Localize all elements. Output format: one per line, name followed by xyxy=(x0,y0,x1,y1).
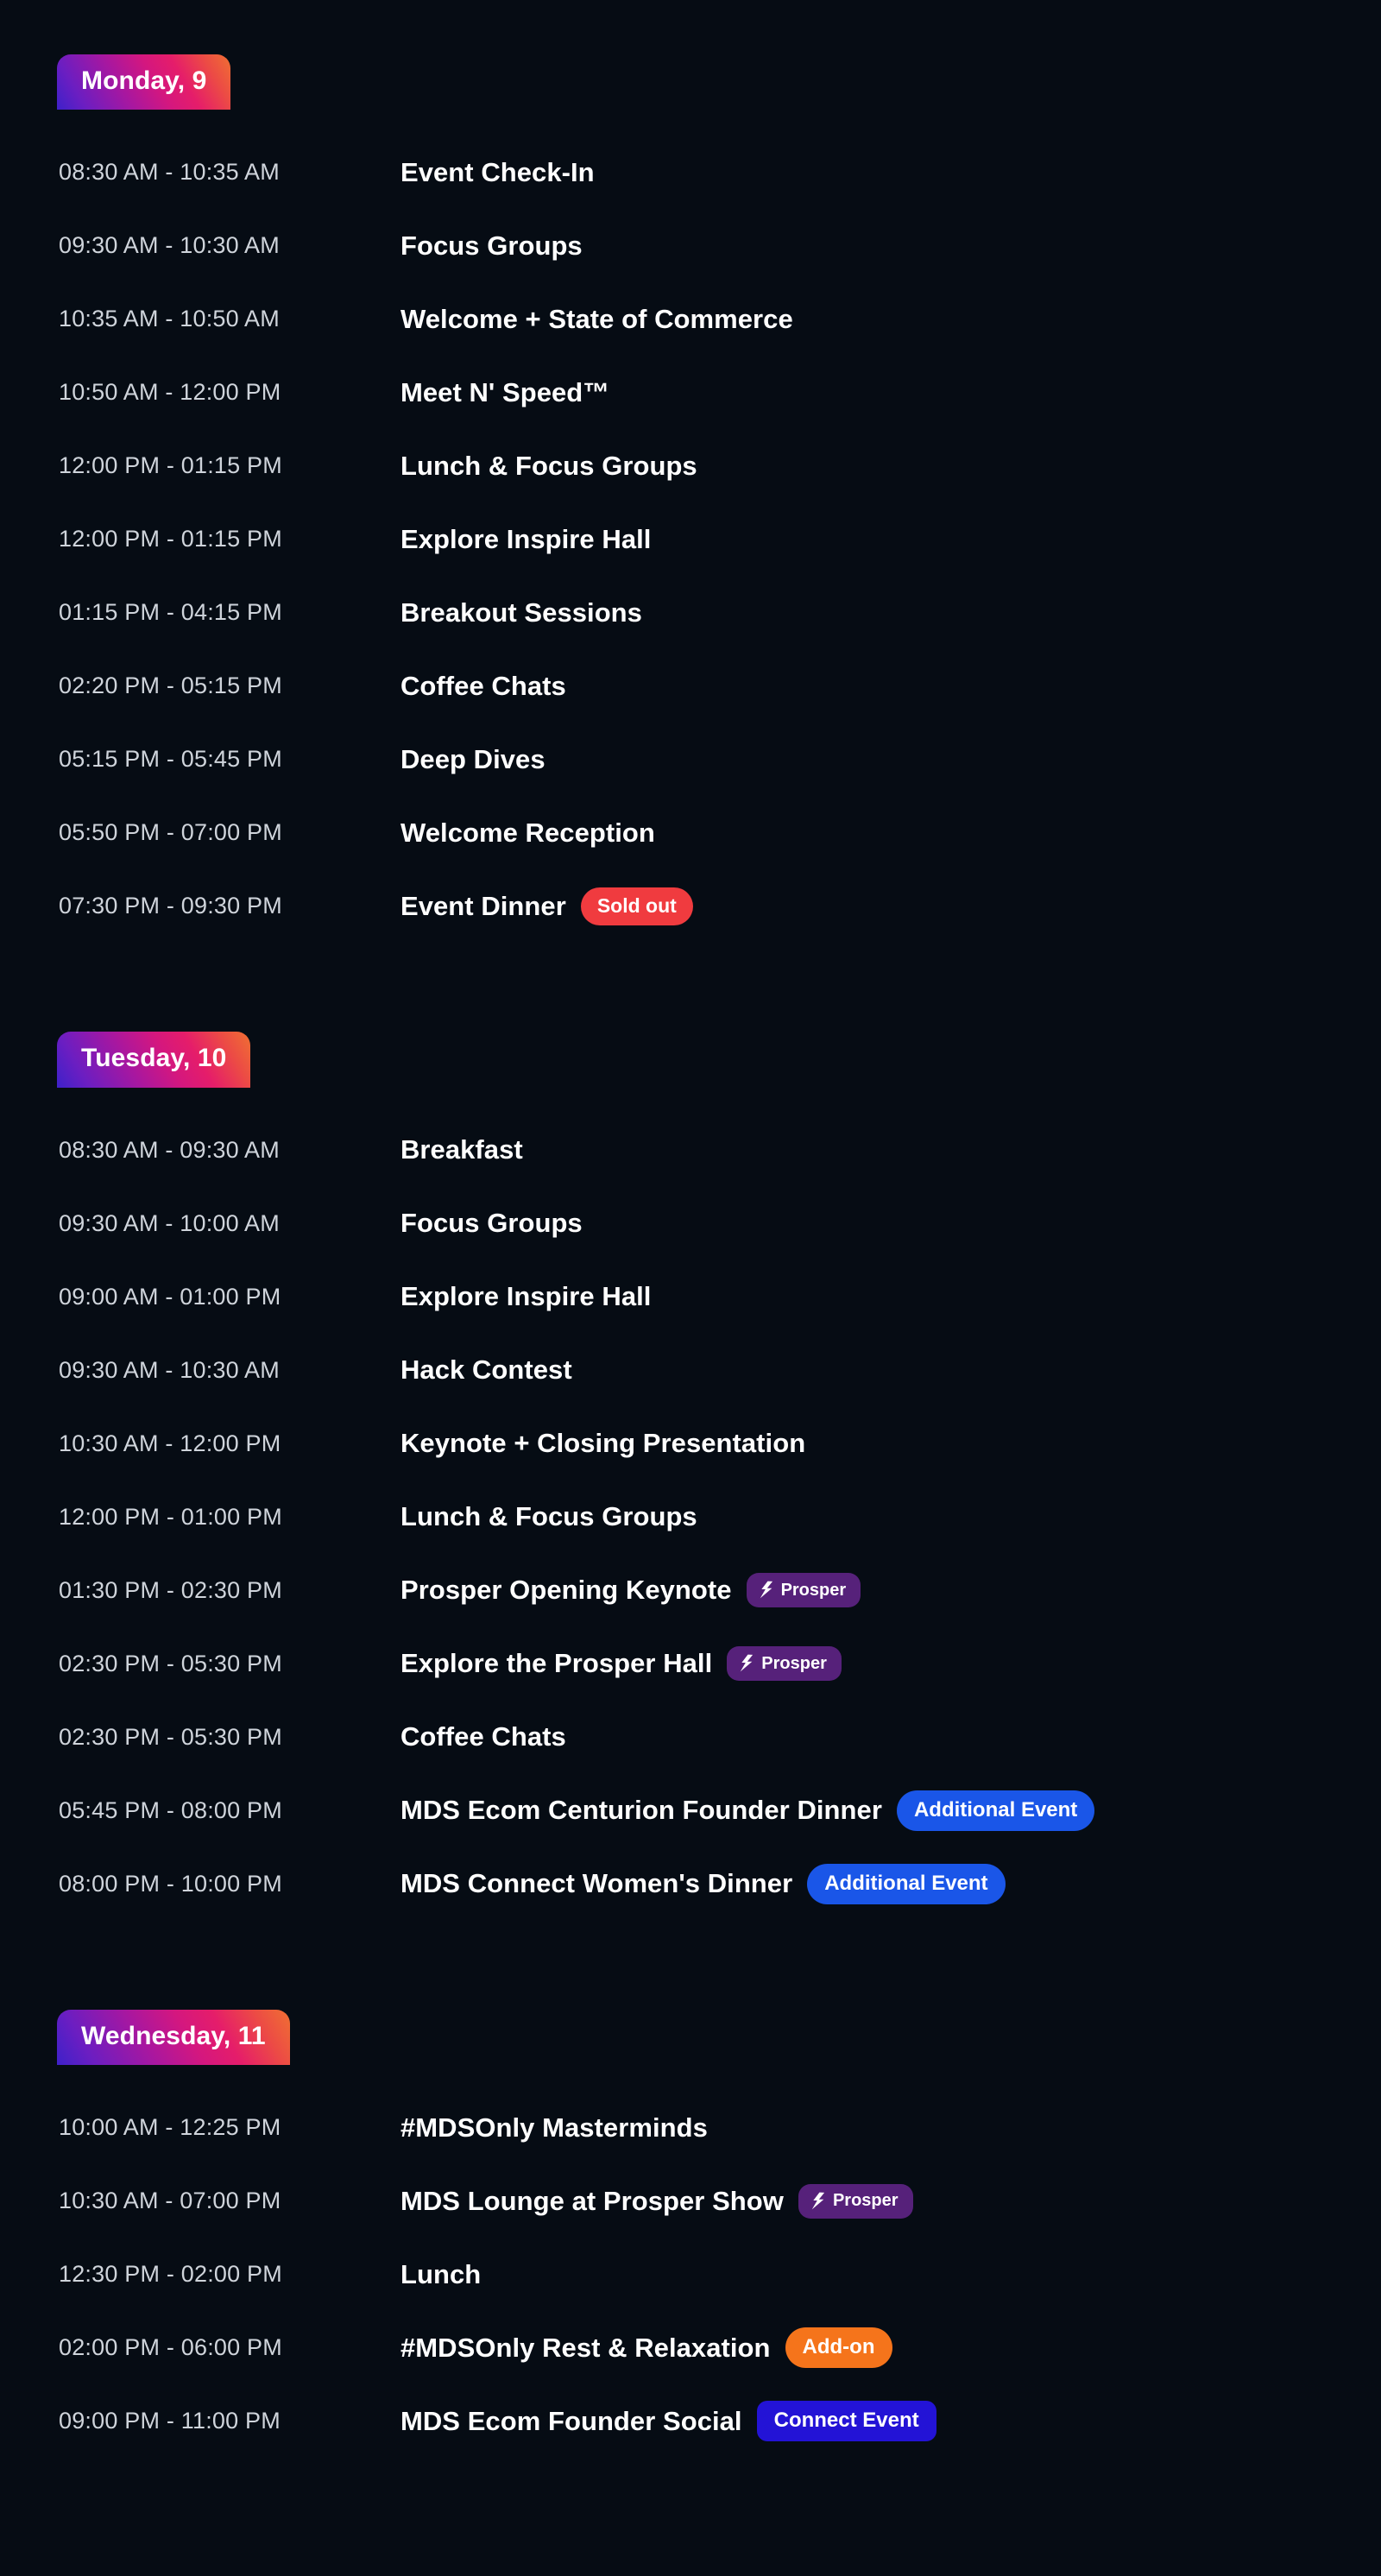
badge-prosper[interactable]: Prosper xyxy=(798,2184,913,2219)
agenda-row[interactable]: 08:30 AM - 10:35 AMEvent Check-In xyxy=(0,136,1381,209)
session-title[interactable]: Deep Dives xyxy=(400,744,545,775)
session-time: 05:45 PM - 08:00 PM xyxy=(59,1797,400,1824)
session-main: Welcome Reception xyxy=(400,818,655,849)
agenda-row[interactable]: 12:00 PM - 01:15 PMLunch & Focus Groups xyxy=(0,429,1381,502)
session-title[interactable]: Focus Groups xyxy=(400,230,583,262)
bolt-icon xyxy=(810,2192,827,2210)
session-list: 10:00 AM - 12:25 PM#MDSOnly Masterminds1… xyxy=(0,2091,1381,2458)
session-title[interactable]: Hack Contest xyxy=(400,1354,572,1386)
agenda-row[interactable]: 07:30 PM - 09:30 PMEvent DinnerSold out xyxy=(0,869,1381,943)
session-title[interactable]: Explore the Prosper Hall xyxy=(400,1648,712,1679)
session-title[interactable]: Focus Groups xyxy=(400,1208,583,1239)
day-separator xyxy=(0,1921,1381,2010)
agenda-row[interactable]: 10:35 AM - 10:50 AMWelcome + State of Co… xyxy=(0,282,1381,356)
day-chip[interactable]: Monday, 9 xyxy=(57,54,230,110)
session-time: 12:00 PM - 01:00 PM xyxy=(59,1504,400,1531)
badge-label: Prosper xyxy=(761,1655,827,1672)
day-block: Wednesday, 1110:00 AM - 12:25 PM#MDSOnly… xyxy=(0,2010,1381,2458)
day-chip[interactable]: Tuesday, 10 xyxy=(57,1032,250,1087)
bolt-icon xyxy=(739,1654,755,1672)
session-time: 09:30 AM - 10:30 AM xyxy=(59,232,400,259)
session-time: 05:50 PM - 07:00 PM xyxy=(59,819,400,846)
session-title[interactable]: #MDSOnly Rest & Relaxation xyxy=(400,2333,771,2364)
session-time: 01:30 PM - 02:30 PM xyxy=(59,1577,400,1604)
session-time: 10:30 AM - 12:00 PM xyxy=(59,1430,400,1457)
badge-sold-out[interactable]: Sold out xyxy=(581,887,693,925)
event-agenda: Monday, 908:30 AM - 10:35 AMEvent Check-… xyxy=(0,0,1381,2576)
agenda-row[interactable]: 09:30 AM - 10:30 AMHack Contest xyxy=(0,1334,1381,1407)
badge-prosper[interactable]: Prosper xyxy=(747,1573,861,1607)
session-main: Breakfast xyxy=(400,1134,523,1165)
session-time: 08:00 PM - 10:00 PM xyxy=(59,1871,400,1897)
session-main: Coffee Chats xyxy=(400,671,566,702)
session-main: Explore Inspire Hall xyxy=(400,1281,651,1312)
agenda-row[interactable]: 09:30 AM - 10:00 AMFocus Groups xyxy=(0,1187,1381,1260)
agenda-row[interactable]: 08:00 PM - 10:00 PMMDS Connect Women's D… xyxy=(0,1847,1381,1921)
session-time: 09:30 AM - 10:00 AM xyxy=(59,1210,400,1237)
agenda-row[interactable]: 09:00 AM - 01:00 PMExplore Inspire Hall xyxy=(0,1260,1381,1334)
session-time: 09:00 PM - 11:00 PM xyxy=(59,2408,400,2434)
session-main: Lunch & Focus Groups xyxy=(400,451,697,482)
session-title[interactable]: Welcome Reception xyxy=(400,818,655,849)
badge-label: Connect Event xyxy=(774,2410,919,2431)
agenda-row[interactable]: 10:30 AM - 07:00 PMMDS Lounge at Prosper… xyxy=(0,2164,1381,2238)
session-list: 08:30 AM - 09:30 AMBreakfast09:30 AM - 1… xyxy=(0,1114,1381,1921)
session-time: 10:00 AM - 12:25 PM xyxy=(59,2114,400,2141)
agenda-row[interactable]: 10:50 AM - 12:00 PMMeet N' Speed™ xyxy=(0,356,1381,429)
session-time: 02:20 PM - 05:15 PM xyxy=(59,672,400,699)
session-title[interactable]: Explore Inspire Hall xyxy=(400,524,651,555)
session-main: Explore the Prosper HallProsper xyxy=(400,1646,842,1681)
session-title[interactable]: Event Check-In xyxy=(400,157,595,188)
session-time: 02:30 PM - 05:30 PM xyxy=(59,1651,400,1677)
session-time: 08:30 AM - 10:35 AM xyxy=(59,159,400,186)
session-title[interactable]: Prosper Opening Keynote xyxy=(400,1575,732,1606)
badge-label: Sold out xyxy=(597,896,677,916)
agenda-row[interactable]: 02:30 PM - 05:30 PMCoffee Chats xyxy=(0,1701,1381,1774)
badge-additional-event[interactable]: Additional Event xyxy=(807,1864,1005,1904)
badge-prosper[interactable]: Prosper xyxy=(727,1646,842,1681)
session-time: 12:00 PM - 01:15 PM xyxy=(59,526,400,552)
badge-label: Additional Event xyxy=(824,1873,987,1894)
session-title[interactable]: Breakout Sessions xyxy=(400,597,642,628)
session-main: Focus Groups xyxy=(400,230,583,262)
agenda-row[interactable]: 12:00 PM - 01:15 PMExplore Inspire Hall xyxy=(0,502,1381,576)
session-title[interactable]: Lunch & Focus Groups xyxy=(400,451,697,482)
bolt-icon xyxy=(759,1581,775,1599)
session-main: Explore Inspire Hall xyxy=(400,524,651,555)
session-title[interactable]: MDS Lounge at Prosper Show xyxy=(400,2186,784,2217)
session-main: Event DinnerSold out xyxy=(400,887,693,925)
session-title[interactable]: Lunch xyxy=(400,2259,481,2290)
session-time: 10:35 AM - 10:50 AM xyxy=(59,306,400,332)
session-main: Lunch & Focus Groups xyxy=(400,1501,697,1532)
session-time: 08:30 AM - 09:30 AM xyxy=(59,1137,400,1164)
session-main: Welcome + State of Commerce xyxy=(400,304,793,335)
agenda-row[interactable]: 01:30 PM - 02:30 PMProsper Opening Keyno… xyxy=(0,1554,1381,1627)
badge-label: Prosper xyxy=(781,1582,847,1599)
badge-label: Add-on xyxy=(803,2337,875,2358)
session-main: MDS Lounge at Prosper ShowProsper xyxy=(400,2184,913,2219)
session-title[interactable]: Meet N' Speed™ xyxy=(400,377,609,408)
session-main: MDS Ecom Centurion Founder DinnerAdditio… xyxy=(400,1790,1094,1831)
session-title[interactable]: Lunch & Focus Groups xyxy=(400,1501,697,1532)
session-time: 10:50 AM - 12:00 PM xyxy=(59,379,400,406)
session-time: 09:30 AM - 10:30 AM xyxy=(59,1357,400,1384)
badge-additional-event[interactable]: Additional Event xyxy=(897,1790,1094,1831)
session-main: Deep Dives xyxy=(400,744,545,775)
session-time: 01:15 PM - 04:15 PM xyxy=(59,599,400,626)
session-main: #MDSOnly Rest & RelaxationAdd-on xyxy=(400,2327,892,2368)
session-main: Lunch xyxy=(400,2259,481,2290)
session-title[interactable]: Event Dinner xyxy=(400,891,566,922)
day-block: Tuesday, 1008:30 AM - 09:30 AMBreakfast0… xyxy=(0,1032,1381,1920)
session-title[interactable]: MDS Ecom Founder Social xyxy=(400,2406,742,2437)
session-main: MDS Connect Women's DinnerAdditional Eve… xyxy=(400,1864,1006,1904)
session-time: 10:30 AM - 07:00 PM xyxy=(59,2188,400,2214)
session-main: Breakout Sessions xyxy=(400,597,642,628)
session-main: Hack Contest xyxy=(400,1354,572,1386)
session-main: MDS Ecom Founder SocialConnect Event xyxy=(400,2401,936,2441)
session-title[interactable]: #MDSOnly Masterminds xyxy=(400,2112,708,2144)
agenda-row[interactable]: 10:00 AM - 12:25 PM#MDSOnly Masterminds xyxy=(0,2091,1381,2164)
agenda-row[interactable]: 05:50 PM - 07:00 PMWelcome Reception xyxy=(0,796,1381,869)
session-title[interactable]: Welcome + State of Commerce xyxy=(400,304,793,335)
session-title[interactable]: Breakfast xyxy=(400,1134,523,1165)
agenda-row[interactable]: 02:20 PM - 05:15 PMCoffee Chats xyxy=(0,649,1381,723)
session-title[interactable]: MDS Connect Women's Dinner xyxy=(400,1868,792,1899)
session-main: Meet N' Speed™ xyxy=(400,377,609,408)
session-list: 08:30 AM - 10:35 AMEvent Check-In09:30 A… xyxy=(0,136,1381,943)
session-time: 12:00 PM - 01:15 PM xyxy=(59,452,400,479)
agenda-row[interactable]: 12:00 PM - 01:00 PMLunch & Focus Groups xyxy=(0,1481,1381,1554)
session-title[interactable]: Explore Inspire Hall xyxy=(400,1281,651,1312)
session-time: 02:30 PM - 05:30 PM xyxy=(59,1724,400,1751)
session-time: 05:15 PM - 05:45 PM xyxy=(59,746,400,773)
session-time: 09:00 AM - 01:00 PM xyxy=(59,1284,400,1310)
session-title[interactable]: Coffee Chats xyxy=(400,671,566,702)
session-title[interactable]: Coffee Chats xyxy=(400,1721,566,1752)
session-time: 02:00 PM - 06:00 PM xyxy=(59,2334,400,2361)
agenda-row[interactable]: 02:30 PM - 05:30 PMExplore the Prosper H… xyxy=(0,1627,1381,1701)
agenda-row[interactable]: 09:00 PM - 11:00 PMMDS Ecom Founder Soci… xyxy=(0,2384,1381,2458)
agenda-row[interactable]: 12:30 PM - 02:00 PMLunch xyxy=(0,2238,1381,2311)
badge-add-on[interactable]: Add-on xyxy=(785,2327,892,2368)
session-time: 07:30 PM - 09:30 PM xyxy=(59,893,400,919)
agenda-row[interactable]: 05:45 PM - 08:00 PMMDS Ecom Centurion Fo… xyxy=(0,1774,1381,1847)
agenda-row[interactable]: 05:15 PM - 05:45 PMDeep Dives xyxy=(0,723,1381,796)
session-main: Coffee Chats xyxy=(400,1721,566,1752)
day-chip[interactable]: Wednesday, 11 xyxy=(57,2010,290,2065)
session-main: Prosper Opening KeynoteProsper xyxy=(400,1573,861,1607)
badge-label: Prosper xyxy=(833,2192,899,2209)
agenda-row[interactable]: 02:00 PM - 06:00 PM#MDSOnly Rest & Relax… xyxy=(0,2311,1381,2384)
badge-label: Additional Event xyxy=(914,1800,1077,1821)
agenda-row[interactable]: 01:15 PM - 04:15 PMBreakout Sessions xyxy=(0,576,1381,649)
agenda-row[interactable]: 10:30 AM - 12:00 PMKeynote + Closing Pre… xyxy=(0,1407,1381,1481)
session-title[interactable]: MDS Ecom Centurion Founder Dinner xyxy=(400,1795,882,1826)
badge-connect-event[interactable]: Connect Event xyxy=(757,2401,936,2441)
agenda-row[interactable]: 09:30 AM - 10:30 AMFocus Groups xyxy=(0,209,1381,282)
session-title[interactable]: Keynote + Closing Presentation xyxy=(400,1428,805,1459)
session-main: Keynote + Closing Presentation xyxy=(400,1428,805,1459)
session-main: #MDSOnly Masterminds xyxy=(400,2112,708,2144)
day-block: Monday, 908:30 AM - 10:35 AMEvent Check-… xyxy=(0,54,1381,943)
agenda-row[interactable]: 08:30 AM - 09:30 AMBreakfast xyxy=(0,1114,1381,1187)
session-main: Focus Groups xyxy=(400,1208,583,1239)
session-time: 12:30 PM - 02:00 PM xyxy=(59,2261,400,2288)
session-main: Event Check-In xyxy=(400,157,595,188)
day-separator xyxy=(0,943,1381,1032)
